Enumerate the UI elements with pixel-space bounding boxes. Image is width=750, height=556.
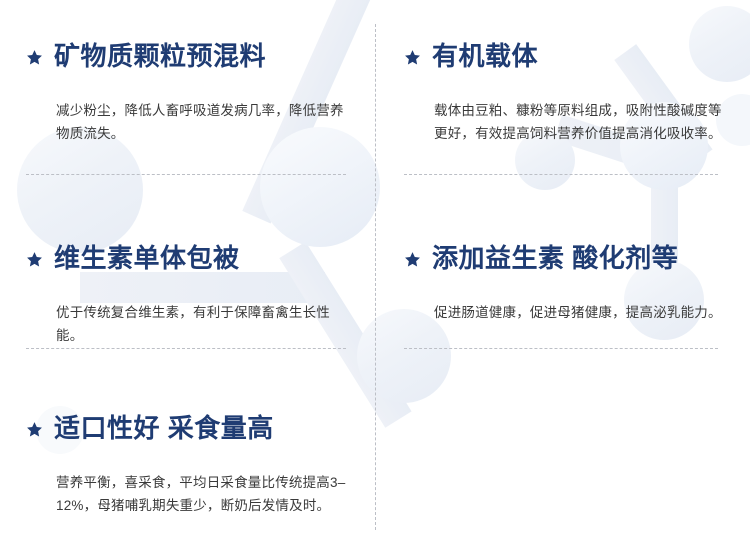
feature-title: 添加益生素 酸化剂等 — [432, 244, 678, 273]
star-icon — [26, 251, 43, 268]
feature-description: 促进肠道健康，促进母猪健康，提高泌乳能力。 — [404, 301, 734, 324]
feature-card-organic-carrier: 有机载体 载体由豆粕、糠粉等原料组成，吸附性酸碱度等更好，有效提高饲料营养价值提… — [404, 20, 734, 146]
feature-heading: 维生素单体包被 — [26, 222, 356, 294]
divider-horizontal-bottom-right — [404, 348, 718, 349]
feature-card-mineral-granule-premix: 矿物质颗粒预混料 减少粉尘，降低人畜呼吸道发病几率，降低营养物质流失。 — [26, 20, 356, 146]
divider-horizontal-top-left — [26, 174, 346, 175]
feature-description: 载体由豆粕、糠粉等原料组成，吸附性酸碱度等更好，有效提高饲料营养价值提高消化吸收… — [404, 99, 734, 145]
feature-card-vitamin-monomer-coating: 维生素单体包被 优于传统复合维生素，有利于保障畜禽生长性能。 — [26, 222, 356, 348]
feature-heading: 添加益生素 酸化剂等 — [404, 222, 734, 294]
feature-title: 适口性好 采食量高 — [54, 414, 274, 443]
divider-vertical-center — [375, 24, 376, 530]
feature-grid-page: 矿物质颗粒预混料 减少粉尘，降低人畜呼吸道发病几率，降低营养物质流失。 有机载体… — [0, 0, 750, 556]
feature-heading: 矿物质颗粒预混料 — [26, 20, 356, 92]
feature-heading: 适口性好 采食量高 — [26, 392, 356, 464]
feature-title: 维生素单体包被 — [54, 244, 240, 273]
divider-horizontal-top-right — [404, 174, 718, 175]
feature-title: 矿物质颗粒预混料 — [54, 42, 266, 71]
star-icon — [404, 49, 421, 66]
feature-description: 减少粉尘，降低人畜呼吸道发病几率，降低营养物质流失。 — [26, 99, 356, 145]
divider-horizontal-bottom-left — [26, 348, 346, 349]
feature-description: 优于传统复合维生素，有利于保障畜禽生长性能。 — [26, 301, 356, 347]
star-icon — [26, 421, 43, 438]
feature-card-palatability-intake: 适口性好 采食量高 营养平衡，喜采食，平均日采食量比传统提高3–12%，母猪哺乳… — [26, 392, 356, 518]
star-icon — [26, 49, 43, 66]
feature-card-probiotics-acidifier: 添加益生素 酸化剂等 促进肠道健康，促进母猪健康，提高泌乳能力。 — [404, 222, 734, 324]
feature-description: 营养平衡，喜采食，平均日采食量比传统提高3–12%，母猪哺乳期失重少，断奶后发情… — [26, 471, 356, 517]
feature-heading: 有机载体 — [404, 20, 734, 92]
feature-title: 有机载体 — [432, 42, 538, 71]
star-icon — [404, 251, 421, 268]
